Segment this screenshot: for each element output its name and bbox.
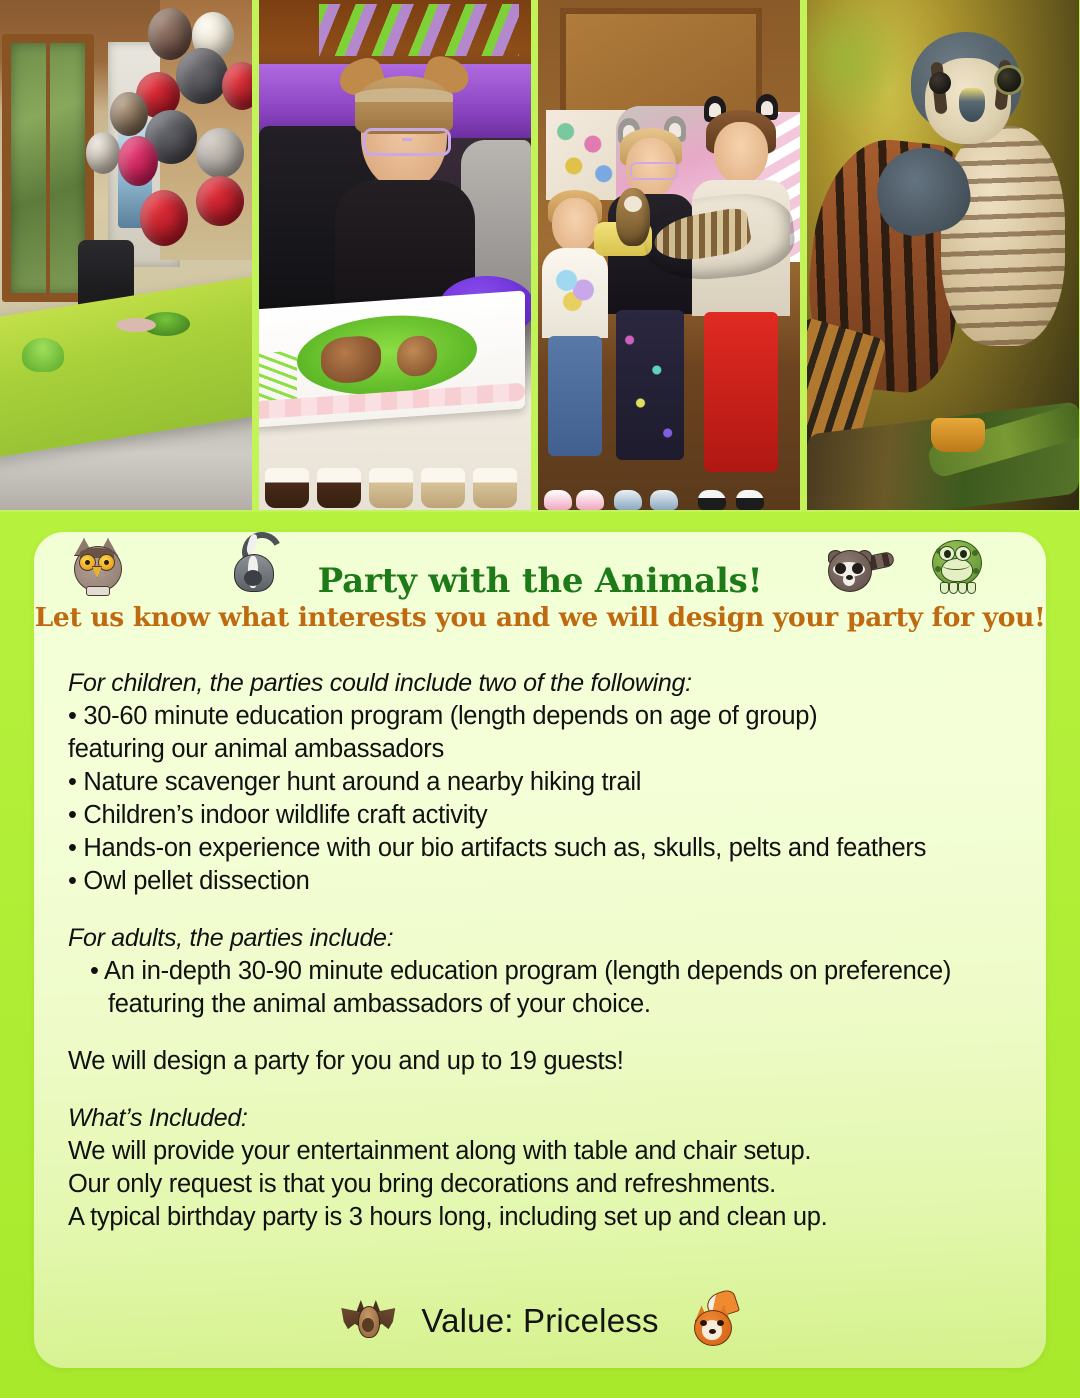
frog-toe bbox=[958, 582, 967, 594]
photo2-girl-hair bbox=[355, 76, 453, 134]
cake-writing bbox=[259, 350, 297, 405]
girl-shoe bbox=[576, 490, 604, 510]
frog-spot bbox=[972, 550, 978, 556]
girl-shirt bbox=[542, 248, 608, 338]
card-footer: Value: Priceless bbox=[34, 1296, 1046, 1346]
spacer bbox=[68, 1078, 1012, 1102]
children-bullet: • Hands-on experience with our bio artif… bbox=[68, 832, 1012, 865]
flyer-page: Party with the Animals! bbox=[0, 0, 1080, 1398]
balloon bbox=[140, 190, 188, 246]
frog-eye bbox=[955, 546, 971, 561]
cupcake bbox=[317, 468, 361, 508]
girl-head bbox=[714, 122, 768, 184]
balloon bbox=[196, 176, 244, 226]
balloon bbox=[176, 48, 228, 104]
balloon bbox=[86, 132, 120, 174]
children-bullet: • Children’s indoor wildlife craft activ… bbox=[68, 799, 1012, 832]
photo2-headband bbox=[355, 88, 453, 102]
included-line: We will provide your entertainment along… bbox=[68, 1135, 1012, 1168]
photo3-girl-young bbox=[540, 170, 610, 510]
guests-line: We will design a party for you and up to… bbox=[68, 1045, 1012, 1078]
page-subtitle: Let us know what interests you and we wi… bbox=[34, 602, 1046, 633]
photo-party-room-with-balloons bbox=[0, 0, 252, 510]
balloon bbox=[196, 128, 244, 178]
bat-icon bbox=[341, 1296, 395, 1346]
spacer bbox=[68, 898, 1012, 922]
adults-bullet: • An in-depth 30-90 minute education pro… bbox=[68, 955, 1012, 988]
girl-shoe bbox=[698, 490, 726, 510]
raccoon-eye bbox=[852, 563, 863, 574]
adults-bullet-continuation: featuring the animal ambassadors of your… bbox=[68, 988, 1012, 1021]
girl-red-pants bbox=[704, 312, 778, 472]
photo2-birthday-cake bbox=[259, 290, 525, 427]
children-bullet: • 30-60 minute education program (length… bbox=[68, 700, 1012, 733]
included-line: A typical birthday party is 3 hours long… bbox=[68, 1201, 1012, 1234]
photo1-centerpiece bbox=[22, 338, 64, 372]
girl-glasses bbox=[630, 162, 678, 180]
page-title: Party with the Animals! bbox=[34, 561, 1046, 601]
photo1-plate bbox=[116, 318, 156, 332]
photo3-girl-middle bbox=[604, 90, 696, 510]
photo4-bokeh bbox=[807, 0, 907, 130]
kestrel-eye bbox=[929, 72, 951, 94]
girl-jeans bbox=[548, 336, 602, 456]
photo-american-kestrel-on-branch bbox=[807, 0, 1079, 510]
frog-mouth bbox=[942, 560, 970, 570]
girl-shoe bbox=[544, 490, 572, 510]
frog-toe bbox=[940, 582, 949, 594]
balloon bbox=[110, 92, 148, 136]
cake-animal bbox=[397, 335, 437, 378]
included-line: Our only request is that you bring decor… bbox=[68, 1168, 1012, 1201]
cupcake bbox=[265, 468, 309, 508]
value-text: Value: Priceless bbox=[421, 1302, 658, 1340]
party-info-card: Party with the Animals! bbox=[34, 532, 1046, 1368]
raccoon-eye bbox=[835, 563, 846, 574]
card-body: For children, the parties could include … bbox=[34, 633, 1046, 1234]
girl-shoe bbox=[614, 490, 642, 510]
frog-icon bbox=[928, 534, 984, 592]
photo-strip bbox=[0, 0, 1080, 512]
children-heading: For children, the parties could include … bbox=[68, 667, 1012, 700]
kestrel-breast bbox=[941, 126, 1065, 346]
kestrel-beak bbox=[959, 88, 985, 122]
photo-girl-with-antlers-and-cake bbox=[259, 0, 531, 510]
included-heading: What’s Included: bbox=[68, 1102, 1012, 1135]
raccoon-nose bbox=[846, 575, 853, 580]
children-bullet-continuation: featuring our animal ambassadors bbox=[68, 733, 1012, 766]
raccoon-icon bbox=[824, 540, 880, 598]
photo2-streamers bbox=[319, 4, 519, 56]
cupcake bbox=[369, 468, 413, 508]
cupcake bbox=[473, 468, 517, 508]
cupcake bbox=[421, 468, 465, 508]
frog-eye bbox=[939, 546, 955, 561]
frog-toe bbox=[967, 582, 976, 594]
girl-head bbox=[552, 198, 598, 252]
kestrel-talons bbox=[931, 418, 985, 452]
fox-icon bbox=[685, 1296, 739, 1346]
photo-three-girls-holding-raptors bbox=[538, 0, 800, 510]
girl-shoe bbox=[650, 490, 678, 510]
fox-eye bbox=[700, 1320, 707, 1326]
children-bullet: • Nature scavenger hunt around a nearby … bbox=[68, 766, 1012, 799]
frog-toe bbox=[949, 582, 958, 594]
children-bullet: • Owl pellet dissection bbox=[68, 865, 1012, 898]
balloon bbox=[148, 8, 192, 60]
girl-leggings bbox=[616, 310, 684, 460]
adults-heading: For adults, the parties include: bbox=[68, 922, 1012, 955]
fox-nose bbox=[709, 1329, 716, 1334]
photo3-girl-older bbox=[686, 70, 796, 510]
spacer bbox=[68, 1021, 1012, 1045]
frog-spot bbox=[973, 568, 979, 574]
kestrel-eye bbox=[997, 68, 1021, 92]
balloon bbox=[118, 136, 158, 186]
girl-shoe bbox=[736, 490, 764, 510]
card-header: Party with the Animals! bbox=[34, 532, 1046, 598]
photo2-glasses bbox=[363, 128, 451, 156]
cake-animal bbox=[321, 335, 381, 385]
fox-eye bbox=[717, 1320, 724, 1326]
